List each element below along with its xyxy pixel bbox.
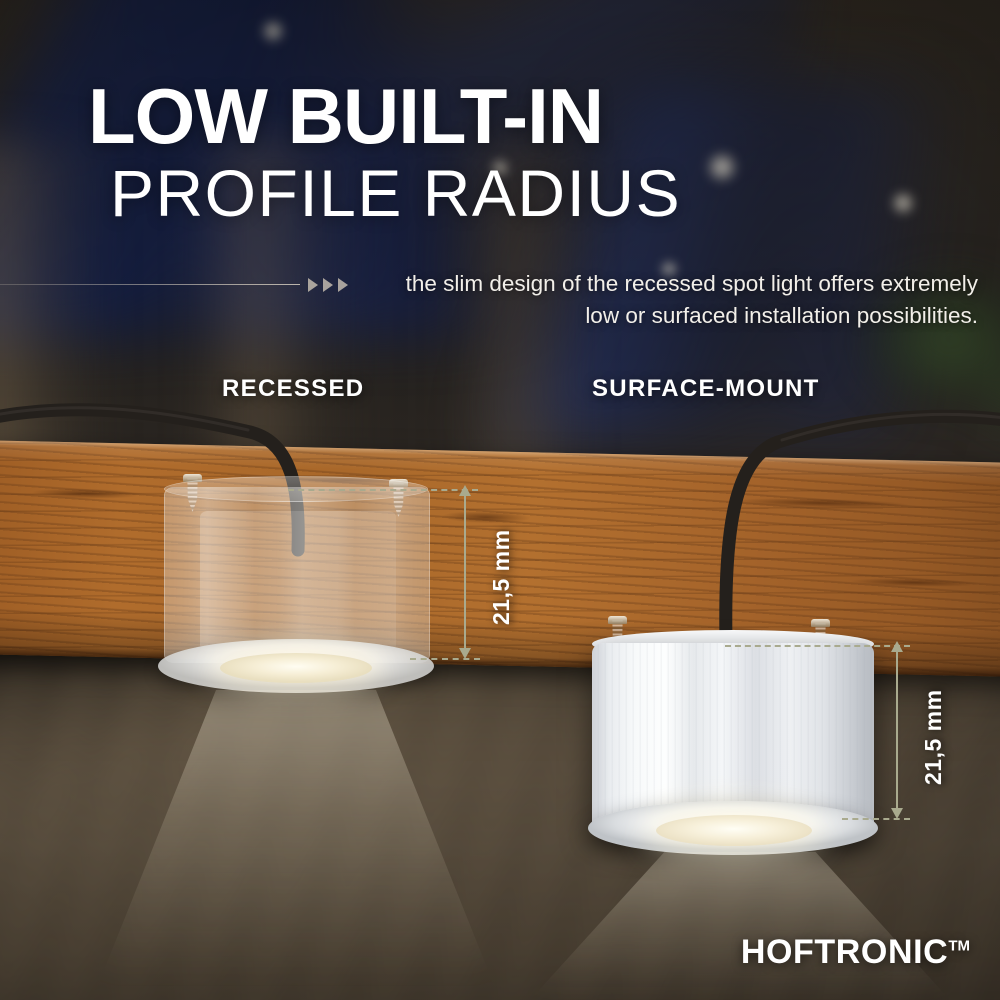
horizontal-rule (0, 284, 300, 285)
cable-surface (726, 416, 1000, 642)
dimension-extension-line-top (288, 489, 478, 491)
headline-block: LOW BUILT-IN PROFILE RADIUS (88, 78, 948, 226)
dimension-value-recessed: 21,5 mm (488, 529, 515, 625)
chevron-right-icon (338, 278, 348, 292)
surface-fixture-lens (656, 815, 812, 846)
recessed-fixture-inner-cylinder (200, 511, 396, 651)
triple-chevron-right-icon (308, 278, 348, 292)
chevron-right-icon (308, 278, 318, 292)
dimension-arrow-down-icon (891, 808, 903, 819)
dimension-arrow-up-icon (891, 641, 903, 652)
subtitle-text: the slim design of the recessed spot lig… (370, 268, 1000, 332)
subtitle-row: the slim design of the recessed spot lig… (0, 268, 1000, 332)
mounting-screw-head (608, 616, 627, 624)
dimension-arrow-down-icon (459, 648, 471, 659)
mounting-screw-head (811, 619, 830, 627)
dimension-leader-line (896, 650, 898, 810)
dimension-leader-line (464, 494, 466, 650)
recessed-fixture-lens (220, 653, 372, 683)
headline-primary: LOW BUILT-IN (88, 78, 948, 154)
dimension-extension-line-top (725, 645, 910, 647)
brand-name: HOFTRONIC (741, 933, 949, 971)
recessed-spot-light-fixture (158, 487, 434, 692)
surface-mount-spot-light-fixture (588, 643, 878, 855)
product-marketing-banner: LOW BUILT-IN PROFILE RADIUS the slim des… (0, 0, 1000, 1000)
chevron-right-icon (323, 278, 333, 292)
dimension-value-surface: 21,5 mm (920, 689, 947, 785)
dimension-arrow-up-icon (459, 485, 471, 496)
headline-secondary: PROFILE RADIUS (110, 160, 948, 226)
brand-logo: HOFTRONICTM (741, 933, 970, 972)
trademark-symbol: TM (948, 938, 970, 955)
